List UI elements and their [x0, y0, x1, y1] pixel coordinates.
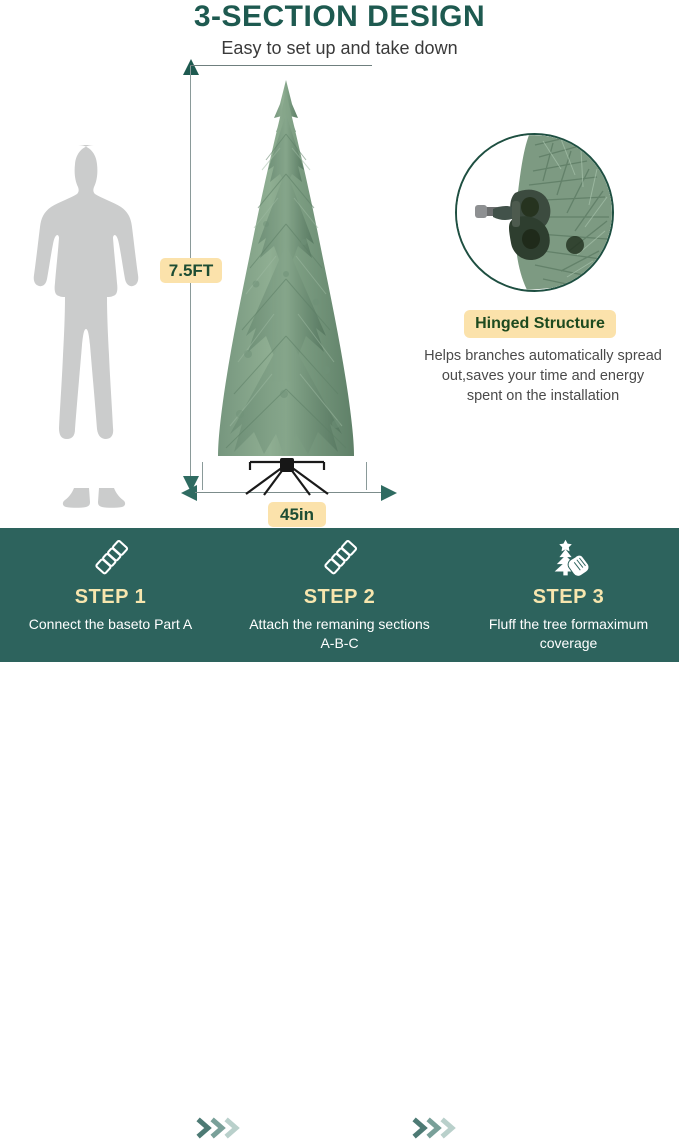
width-arrow-left-icon [181, 485, 197, 501]
page-title: 3-SECTION DESIGN [0, 0, 679, 34]
hinged-structure-badge: Hinged Structure [464, 310, 616, 338]
christmas-tree-image [196, 74, 376, 494]
hinge-closeup-image [455, 133, 614, 292]
step-1: STEP 1 Connect the baseto Part A [4, 528, 217, 662]
christmas-tree-hand-icon [462, 528, 675, 582]
infographic-root: 3-SECTION DESIGN Easy to set up and take… [0, 0, 679, 662]
person-silhouette-icon [30, 143, 158, 511]
top-guide-line [190, 65, 372, 66]
header: 3-SECTION DESIGN Easy to set up and take… [0, 0, 679, 59]
chevron-arrows-1-icon [196, 1116, 266, 1140]
chain-link-icon [4, 528, 217, 582]
chevron-arrows-2-icon [412, 1116, 482, 1140]
chain-link-icon [233, 528, 446, 582]
step-1-description: Connect the baseto Part A [4, 615, 217, 634]
height-arrow-top-icon [183, 59, 199, 75]
steps-bar: STEP 1 Connect the baseto Part A [0, 528, 679, 662]
height-badge: 7.5FT [160, 258, 222, 283]
step-3-description: Fluff the tree formaximum coverage [462, 615, 675, 653]
step-1-title: STEP 1 [4, 586, 217, 609]
illustration-stage: 7.5FT 45in [0, 58, 679, 528]
tree-stand-image [238, 454, 336, 498]
width-arrow-right-icon [381, 485, 397, 501]
page-subtitle: Easy to set up and take down [0, 34, 679, 59]
step-2: STEP 2 Attach the remaning sections A-B-… [233, 528, 446, 662]
step-3-title: STEP 3 [462, 586, 675, 609]
width-badge: 45in [268, 502, 326, 527]
step-2-description: Attach the remaning sections A-B-C [233, 615, 446, 653]
step-2-title: STEP 2 [233, 586, 446, 609]
step-3: STEP 3 Fluff the tree formaximum coverag… [462, 528, 675, 662]
hinged-structure-description: Helps branches automatically spread out,… [424, 346, 662, 406]
